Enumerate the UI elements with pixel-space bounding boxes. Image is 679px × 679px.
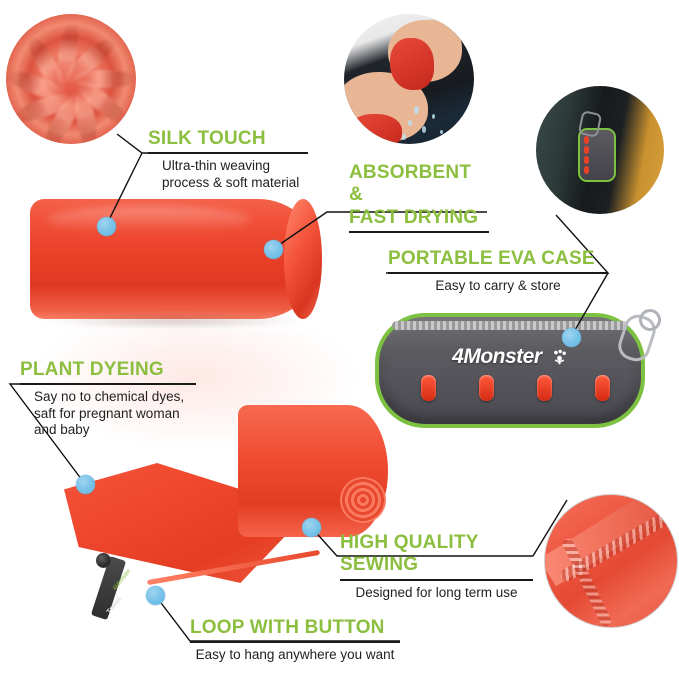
- callout-heading-silk-touch: SILK TOUCH: [148, 128, 308, 150]
- callout-plant-dyeing: PLANT DYEING Say no to chemical dyes, sa…: [20, 359, 196, 439]
- loop-snap-button: [96, 553, 111, 568]
- callout-subtext-eva-case: Easy to carry & store: [388, 278, 608, 294]
- hang-tag-label: Towel: [106, 596, 123, 616]
- callout-silk-touch: SILK TOUCH Ultra-thin weaving process & …: [148, 128, 308, 191]
- callout-absorbent: ABSORBENT & FAST DRYING: [349, 162, 489, 233]
- hotspot-absorbent[interactable]: [264, 240, 283, 259]
- callout-rule: [388, 272, 608, 274]
- product-eva-case: 4Monster: [375, 313, 645, 428]
- callout-subtext-silk-touch: Ultra-thin weaving process & soft materi…: [148, 158, 308, 191]
- product-rolled-towel: [30, 199, 320, 319]
- photo-stitched-hem-macro: [544, 494, 678, 628]
- photo-hands-wringing-towel: [344, 14, 474, 144]
- callout-rule: [349, 231, 489, 233]
- callout-heading-eva-case: PORTABLE EVA CASE: [388, 248, 608, 270]
- case-vent-slots: [421, 375, 610, 401]
- hotspot-sewing[interactable]: [302, 518, 321, 537]
- infographic-canvas: 4Monster: [0, 0, 679, 679]
- callout-rule: [20, 383, 196, 385]
- callout-subtext-loop-button: Easy to hang anywhere you want: [190, 647, 400, 663]
- callout-heading-plant-dyeing: PLANT DYEING: [20, 359, 196, 381]
- hotspot-plant-dyeing[interactable]: [76, 475, 95, 494]
- brand-text: 4Monster: [452, 345, 541, 368]
- callout-eva-case: PORTABLE EVA CASE Easy to carry & store: [388, 248, 608, 295]
- case-brand-logo: 4Monster: [379, 345, 641, 369]
- hotspot-silk-touch[interactable]: [97, 217, 116, 236]
- callout-subtext-plant-dyeing: Say no to chemical dyes, saft for pregna…: [20, 389, 196, 438]
- hotspot-eva-case[interactable]: [562, 328, 581, 347]
- callout-subtext-sewing: Designed for long term use: [340, 585, 533, 601]
- monster-paw-icon: [551, 348, 568, 365]
- photo-silk-fabric-closeup: [6, 14, 136, 144]
- callout-sewing: HIGH QUALITY SEWING Designed for long te…: [340, 532, 533, 601]
- callout-heading-absorbent: ABSORBENT & FAST DRYING: [349, 162, 489, 229]
- callout-heading-sewing: HIGH QUALITY SEWING: [340, 532, 533, 577]
- hotspot-loop-button[interactable]: [146, 586, 165, 605]
- hang-tag-sub: 4Monster: [112, 568, 132, 591]
- callout-rule: [190, 641, 400, 643]
- callout-heading-loop-button: LOOP WITH BUTTON: [190, 617, 400, 639]
- case-zipper: [392, 321, 628, 330]
- callout-rule: [148, 152, 308, 154]
- callout-rule: [340, 579, 533, 581]
- photo-case-on-backpack: [536, 86, 664, 214]
- callout-loop-button: LOOP WITH BUTTON Easy to hang anywhere y…: [190, 617, 400, 664]
